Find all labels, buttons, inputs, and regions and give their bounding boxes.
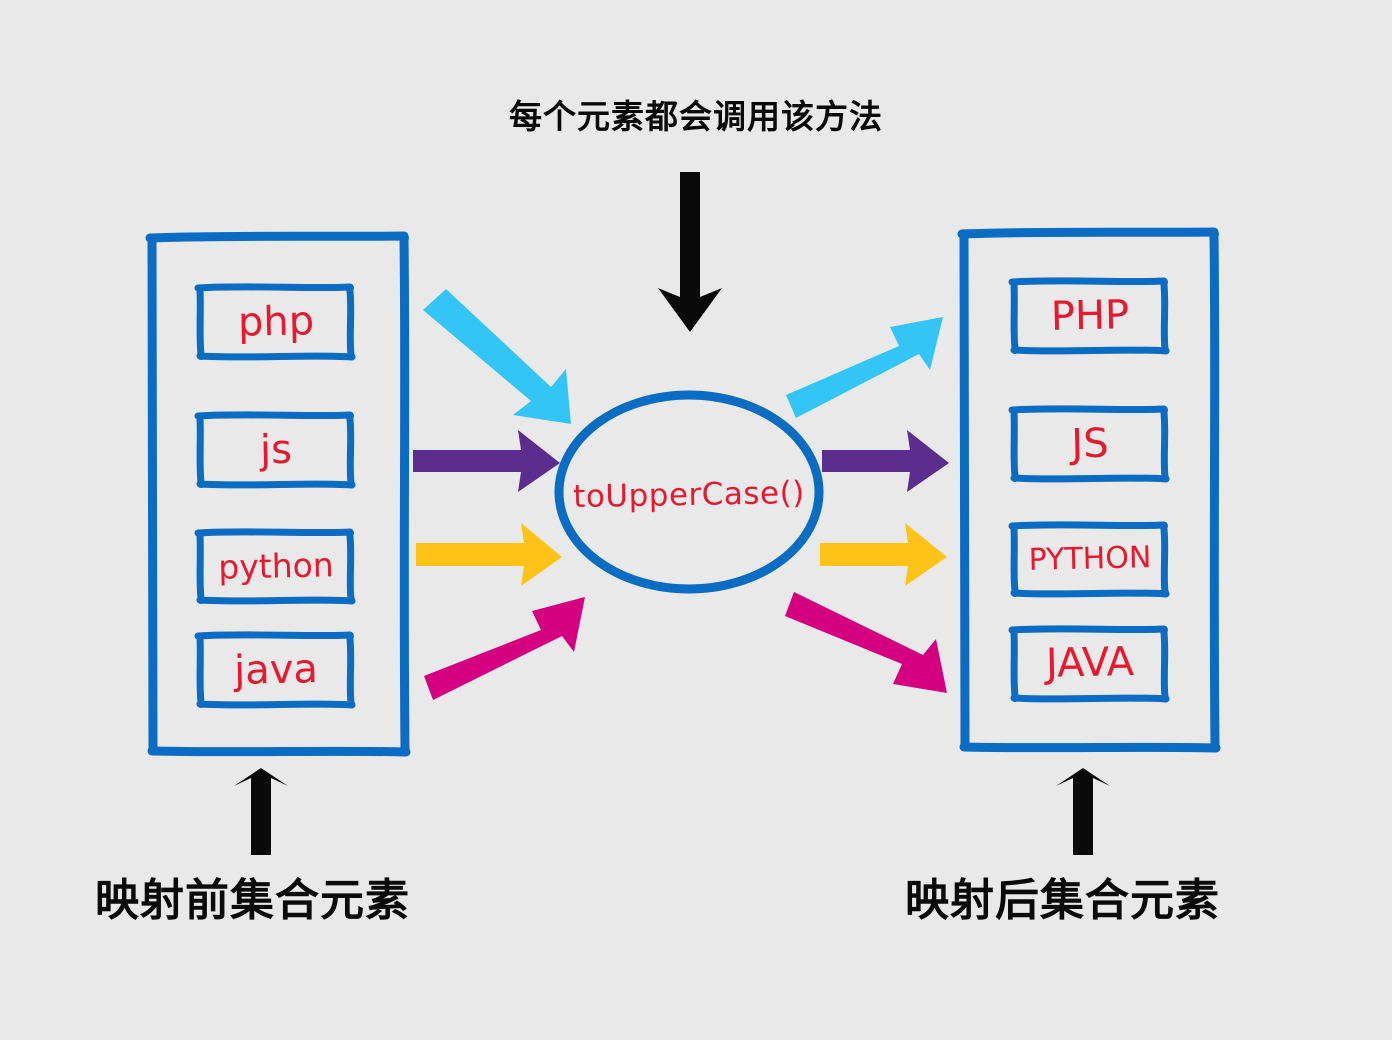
result-item-box-java: [1010, 626, 1169, 702]
result-item-box-js: [1010, 406, 1169, 482]
diagram-graphics: [0, 0, 1392, 1040]
result-caption-arrow-up-icon: [1056, 768, 1110, 855]
flow-arrow-out-java: [785, 592, 947, 693]
flow-arrow-in-java: [424, 597, 585, 700]
flow-arrow-out-php: [786, 317, 943, 418]
source-collection-frame: [147, 233, 410, 756]
flow-arrow-in-js: [413, 430, 560, 492]
arrow-down-icon: [658, 172, 722, 332]
result-item-box-python: [1010, 522, 1169, 597]
source-item-box-python: [196, 529, 355, 604]
transform-ellipse: [559, 395, 819, 589]
source-item-box-java: [196, 632, 355, 708]
flow-arrow-out-js: [822, 430, 949, 492]
diagram-canvas: 每个元素都会调用该方法 映射前集合元素 映射后集合元素 php js pytho…: [0, 0, 1392, 1040]
flow-arrow-out-python: [820, 523, 947, 586]
result-item-box-php: [1010, 278, 1169, 354]
source-item-box-js: [196, 412, 355, 488]
source-caption-arrow-up-icon: [234, 768, 288, 855]
source-item-box-php: [196, 284, 355, 360]
flow-arrow-in-php: [423, 289, 571, 424]
result-collection-frame: [959, 229, 1220, 752]
flow-arrow-in-python: [416, 523, 562, 586]
